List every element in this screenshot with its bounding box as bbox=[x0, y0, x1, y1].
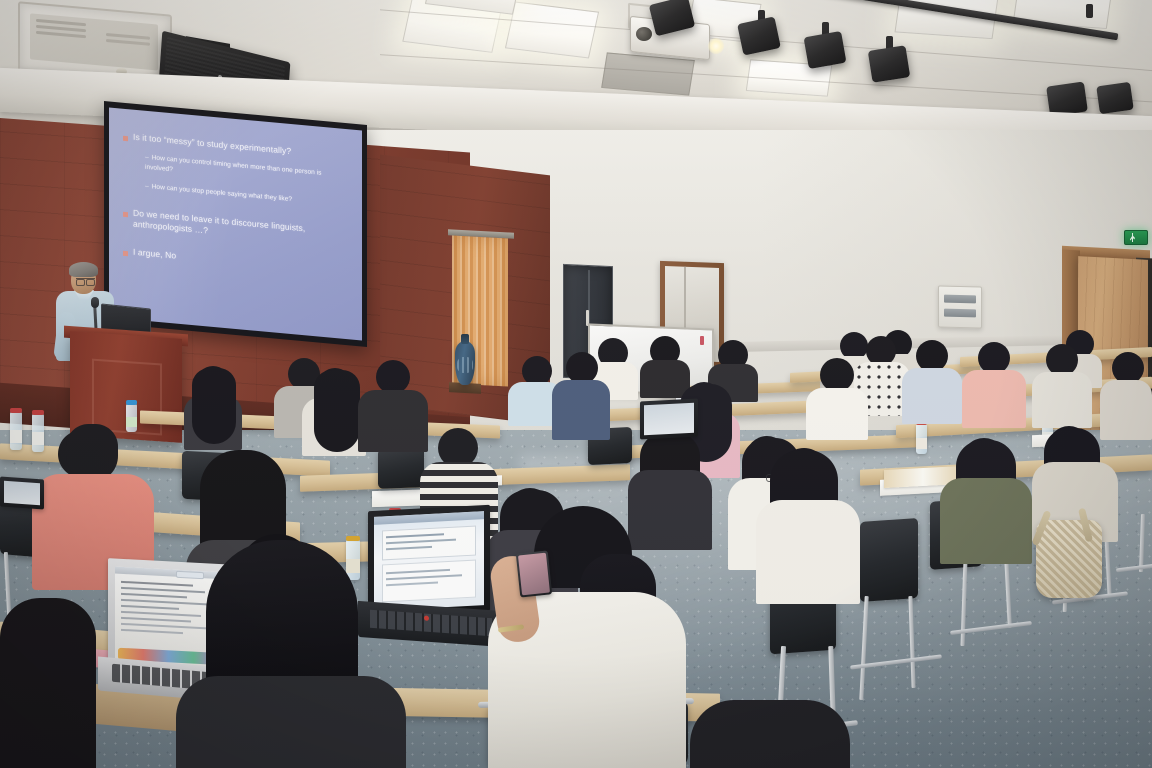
audience-row2-far-left-hair bbox=[192, 368, 236, 444]
water-bottle bbox=[10, 412, 22, 450]
chair[interactable] bbox=[378, 447, 424, 489]
audience-right-foreground-body bbox=[756, 500, 860, 604]
smartphone-camera[interactable] bbox=[516, 550, 552, 597]
audience-back-right-body bbox=[1032, 372, 1092, 428]
wall-electrical-panel bbox=[938, 285, 982, 328]
eyeglasses-icon bbox=[76, 278, 95, 284]
laptop-far-left[interactable] bbox=[0, 476, 44, 509]
water-bottle bbox=[916, 424, 927, 454]
audience-row2-left2-hair bbox=[314, 370, 360, 452]
ceiling-tile bbox=[601, 52, 695, 95]
audience-row2-man-body bbox=[358, 390, 428, 452]
water-bottle bbox=[32, 414, 44, 452]
ceiling-downlight bbox=[708, 38, 724, 54]
audience-man-salmon-body bbox=[962, 370, 1026, 428]
audience-row2-man-head bbox=[376, 360, 410, 394]
lecture-hall-photo: Is it too “messy” to study experimentall… bbox=[0, 0, 1152, 768]
audience-right-olive-body bbox=[940, 478, 1032, 564]
presenter-hair bbox=[69, 262, 98, 277]
track-spotlight bbox=[1096, 82, 1134, 114]
water-bottle bbox=[346, 540, 360, 580]
audience-far-right-body bbox=[1100, 380, 1152, 440]
audience-bottom-right-shoulder bbox=[690, 700, 850, 768]
audience-back-white-body bbox=[806, 388, 868, 440]
audience-mid-center-body bbox=[628, 470, 712, 550]
ceiling-panel-light bbox=[505, 1, 599, 58]
thinkpad-foreground-center[interactable] bbox=[368, 505, 490, 617]
spotlight-neck bbox=[1086, 4, 1093, 18]
chair[interactable] bbox=[860, 518, 918, 602]
emergency-exit-sign bbox=[1124, 230, 1148, 245]
audience-foreground-long-hair-body bbox=[176, 676, 406, 768]
whiteboard-marker bbox=[700, 336, 704, 345]
plaid-backpack[interactable] bbox=[1036, 520, 1102, 598]
track-spotlight bbox=[804, 31, 847, 69]
track-spotlight bbox=[868, 45, 911, 83]
decorative-ceramic-vase bbox=[455, 341, 475, 385]
water-bottle bbox=[126, 404, 137, 432]
microphone-icon bbox=[91, 297, 99, 308]
audience-back-white-head bbox=[820, 358, 854, 392]
audience-far-left-shoulder bbox=[0, 598, 96, 768]
audience-man-blue-body bbox=[902, 368, 962, 424]
audience-back-dark-body bbox=[640, 360, 690, 398]
laptop-right-row[interactable] bbox=[640, 398, 698, 439]
projector-lens-icon bbox=[636, 27, 652, 41]
audience-row2-navy-body bbox=[552, 380, 610, 440]
